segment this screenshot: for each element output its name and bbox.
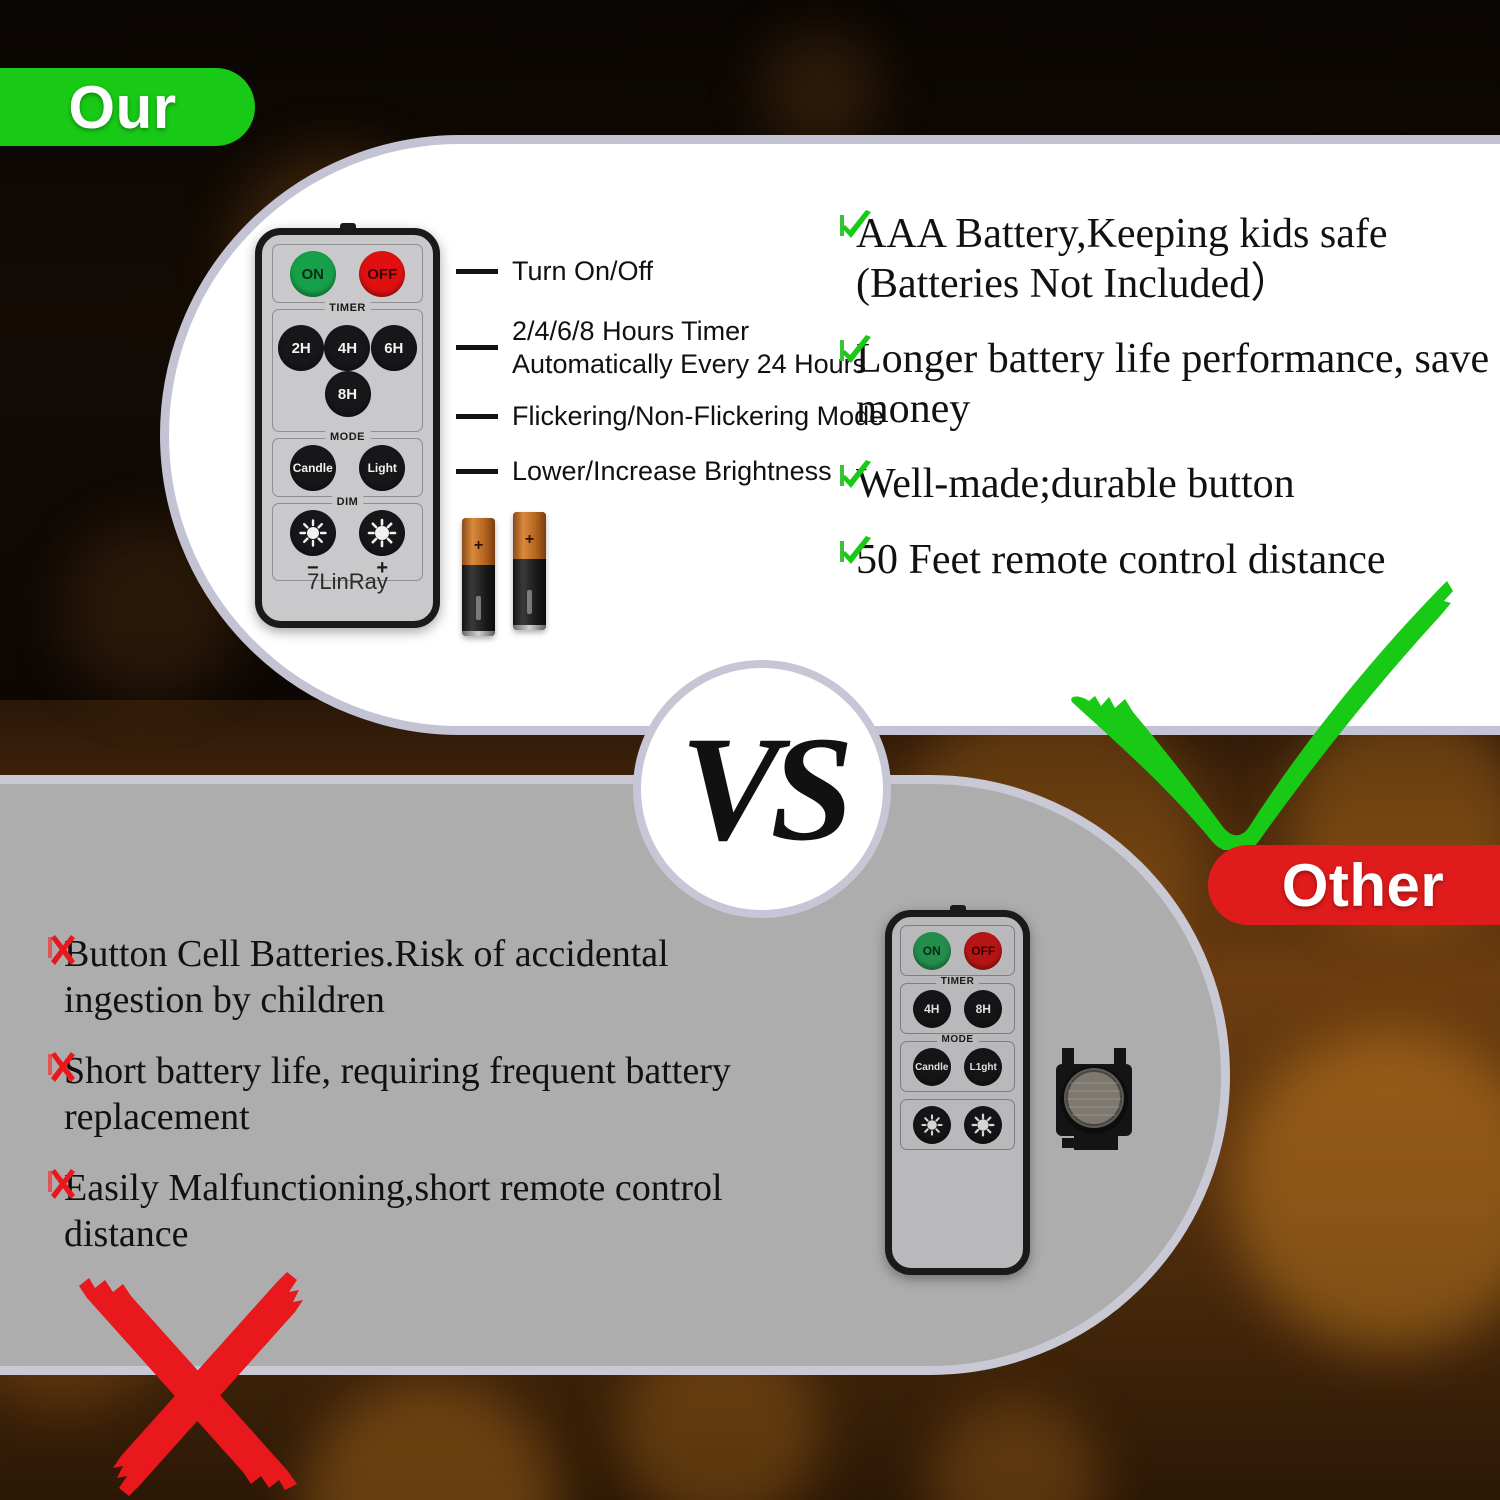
check-icon	[840, 543, 844, 561]
off-button[interactable]: OFF	[964, 932, 1002, 970]
mode-candle-button[interactable]: Candle	[290, 445, 336, 491]
cross-icon	[48, 1056, 52, 1074]
feature-item: 50 Feet remote control distance	[840, 536, 1490, 586]
ir-emitter-nub	[950, 905, 966, 913]
mode-light-label: L1ght	[970, 1062, 997, 1073]
coin-cell-battery	[1048, 1038, 1140, 1156]
check-icon	[840, 342, 844, 360]
battery-plus-icon: +	[513, 532, 546, 548]
timer-4h-button[interactable]: 4H	[913, 990, 951, 1028]
timer-button-group: TIMER 2H 4H 6H 8H	[272, 309, 423, 432]
dim-up-button[interactable]	[964, 1106, 1002, 1144]
battery-foot	[513, 625, 546, 630]
callout-dim: Lower/Increase Brightness	[456, 455, 832, 488]
mode-candle-label: Candle	[915, 1062, 948, 1073]
callout-text: Lower/Increase Brightness	[512, 455, 832, 488]
off-button[interactable]: OFF	[359, 251, 405, 297]
mode-group-label: MODE	[937, 1034, 979, 1045]
callout-mode: Flickering/Non-Flickering Mode	[456, 400, 884, 433]
battery-plus-icon: +	[462, 538, 495, 554]
feature-text: Well-made;durable button	[856, 460, 1295, 510]
timer-4h-button[interactable]: 4H	[324, 325, 370, 371]
other-remote-control: ON OFF TIMER 4H 8H MODE Candle L1ght	[885, 910, 1030, 1275]
battery-stripe	[527, 590, 532, 614]
check-icon	[840, 217, 844, 235]
on-button-label: ON	[302, 266, 325, 283]
callout-timer: 2/4/6/8 Hours Timer Automatically Every …	[456, 315, 866, 381]
dim-down-button[interactable]	[290, 510, 336, 556]
other-badge-label: Other	[1282, 851, 1445, 920]
timer-6h-button[interactable]: 6H	[371, 325, 417, 371]
mode-light-button[interactable]: Light	[359, 445, 405, 491]
battery-stripe	[476, 596, 481, 620]
mode-light-label: Light	[368, 461, 397, 475]
cross-icon	[48, 939, 52, 957]
infographic-canvas: Our Other VS ON OFF TIMER 2H 4H	[0, 0, 1500, 1500]
big-red-cross-brush	[55, 1248, 365, 1500]
timer-8h-button[interactable]: 8H	[964, 990, 1002, 1028]
feature-text: 50 Feet remote control distance	[856, 536, 1386, 586]
on-button[interactable]: ON	[913, 932, 951, 970]
timer-6h-label: 6H	[384, 340, 403, 357]
sun-icon	[367, 518, 397, 548]
timer-group-label: TIMER	[936, 976, 980, 987]
our-badge: Our	[0, 68, 255, 146]
drawback-text: Short battery life, requiring frequent b…	[64, 1049, 778, 1140]
aaa-battery: +	[462, 518, 495, 636]
timer-2h-label: 2H	[292, 340, 311, 357]
mode-candle-label: Candle	[293, 461, 333, 475]
aaa-battery: +	[513, 512, 546, 630]
our-remote-control: ON OFF TIMER 2H 4H 6H 8H MODE Cand	[255, 228, 440, 628]
timer-group-label: TIMER	[324, 302, 371, 314]
drawback-item: Easily Malfunctioning,short remote contr…	[48, 1166, 778, 1257]
feature-list: AAA Battery,Keeping kids safe (Batteries…	[840, 210, 1490, 611]
callout-text: Flickering/Non-Flickering Mode	[512, 400, 884, 433]
ir-emitter-nub	[340, 223, 356, 231]
timer-8h-label: 8H	[976, 1002, 991, 1016]
callout-dash	[456, 269, 498, 274]
timer-4h-label: 4H	[924, 1002, 939, 1016]
timer-2h-button[interactable]: 2H	[278, 325, 324, 371]
on-button[interactable]: ON	[290, 251, 336, 297]
callout-text: 2/4/6/8 Hours Timer Automatically Every …	[512, 315, 866, 381]
our-badge-label: Our	[68, 73, 176, 142]
callout-text: Turn On/Off	[512, 255, 653, 288]
dim-group-label: DIM	[332, 496, 364, 508]
drawback-text: Button Cell Batteries.Risk of accidental…	[64, 932, 778, 1023]
drawback-item: Short battery life, requiring frequent b…	[48, 1049, 778, 1140]
brand-name: 7LinRay	[262, 569, 433, 595]
timer-4h-label: 4H	[338, 340, 357, 357]
off-button-label: OFF	[971, 944, 995, 958]
mode-candle-button[interactable]: Candle	[913, 1048, 951, 1086]
sun-icon	[298, 518, 328, 548]
cross-icon	[48, 1173, 52, 1191]
callout-dash	[456, 469, 498, 474]
mode-light-button[interactable]: L1ght	[964, 1048, 1002, 1086]
drawback-item: Button Cell Batteries.Risk of accidental…	[48, 932, 778, 1023]
feature-item: Longer battery life performance, save mo…	[840, 335, 1490, 434]
timer-8h-button[interactable]: 8H	[325, 371, 371, 417]
feature-text: Longer battery life performance, save mo…	[856, 335, 1490, 434]
sun-icon	[920, 1113, 944, 1137]
power-button-group: ON OFF	[900, 925, 1015, 976]
callout-dash	[456, 414, 498, 419]
dim-up-button[interactable]	[359, 510, 405, 556]
dim-button-group	[900, 1099, 1015, 1150]
other-badge: Other	[1208, 845, 1500, 925]
mode-button-group: MODE Candle L1ght	[900, 1041, 1015, 1092]
power-button-group: ON OFF	[272, 244, 423, 303]
callout-power: Turn On/Off	[456, 255, 653, 288]
vs-label: VS	[680, 703, 843, 875]
timer-button-group: TIMER 4H 8H	[900, 983, 1015, 1034]
on-button-label: ON	[923, 944, 941, 958]
drawback-list: Button Cell Batteries.Risk of accidental…	[48, 932, 778, 1284]
bokeh-dot	[760, 30, 880, 150]
feature-item: Well-made;durable button	[840, 460, 1490, 510]
check-icon	[840, 467, 844, 485]
mode-button-group: MODE Candle Light	[272, 438, 423, 497]
battery-foot	[462, 631, 495, 636]
mode-group-label: MODE	[325, 431, 370, 443]
off-button-label: OFF	[367, 266, 397, 283]
vs-badge: VS	[633, 660, 891, 918]
timer-8h-label: 8H	[338, 386, 357, 403]
callout-dash	[456, 345, 498, 350]
big-green-check-brush	[1055, 575, 1475, 850]
drawback-text: Easily Malfunctioning,short remote contr…	[64, 1166, 778, 1257]
dim-down-button[interactable]	[913, 1106, 951, 1144]
feature-item: AAA Battery,Keeping kids safe (Batteries…	[840, 210, 1490, 309]
feature-text: AAA Battery,Keeping kids safe (Batteries…	[856, 210, 1490, 309]
sun-icon	[971, 1113, 995, 1137]
